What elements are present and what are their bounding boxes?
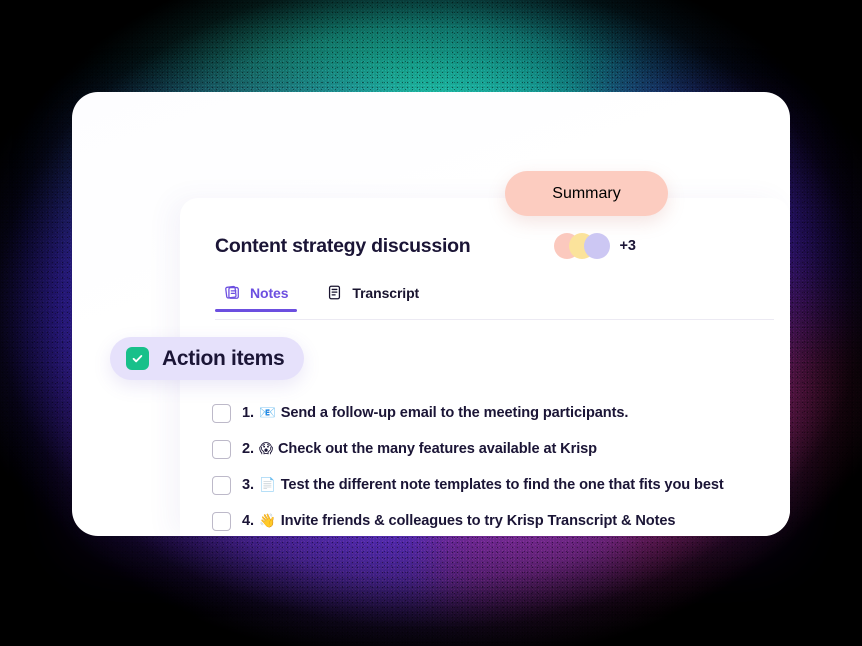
item-index: 1. [242,405,254,421]
action-items-label: Action items [162,347,284,371]
tabs-divider [215,319,774,320]
tab-notes[interactable]: Notes [215,278,297,312]
summary-badge[interactable]: Summary [505,171,668,216]
item-label: Test the different note templates to fin… [281,477,724,493]
item-label: Check out the many features available at… [278,441,597,457]
item-checkbox[interactable] [212,476,231,495]
meeting-card: Summary Content strategy discussion +3 [72,92,790,536]
email-emoji-icon: 📧 [259,405,276,421]
document-lines-icon [326,284,343,301]
tab-transcript-label: Transcript [352,285,419,301]
participant-group[interactable]: +3 [554,233,636,259]
panel-header: Content strategy discussion +3 [215,224,766,268]
tab-notes-label: Notes [250,285,288,301]
item-text-wrap: 1. 📧 Send a follow-up email to the meeti… [242,405,628,421]
list-item[interactable]: 1. 📧 Send a follow-up email to the meeti… [212,396,782,430]
page-emoji-icon: 📄 [259,477,276,493]
list-item[interactable]: 3. 📄 Test the different note templates t… [212,468,782,502]
page-title: Content strategy discussion [215,235,470,258]
item-text-wrap: 3. 📄 Test the different note templates t… [242,477,724,493]
summary-badge-label: Summary [552,185,620,203]
item-checkbox[interactable] [212,404,231,423]
item-text-wrap: 4. 👋 Invite friends & colleagues to try … [242,513,675,529]
action-items-list: 1. 📧 Send a follow-up email to the meeti… [212,396,782,536]
avatar-stack[interactable] [554,233,610,259]
item-index: 2. [242,441,254,457]
list-item[interactable]: 2. 😱 Check out the many features availab… [212,432,782,466]
sticky-notes-icon [224,284,241,301]
item-index: 4. [242,513,254,529]
item-checkbox[interactable] [212,512,231,531]
item-checkbox[interactable] [212,440,231,459]
avatar[interactable] [584,233,610,259]
participants-overflow-count[interactable]: +3 [619,238,636,254]
app-backdrop: Summary Content strategy discussion +3 [0,0,862,646]
action-items-section-badge[interactable]: Action items [110,337,304,380]
item-label: Send a follow-up email to the meeting pa… [281,405,629,421]
checkbox-checked-icon [126,347,149,370]
scream-emoji-icon: 😱 [259,441,273,457]
item-index: 3. [242,477,254,493]
panel-tabs: Notes Transcript [215,278,428,312]
waving-hand-emoji-icon: 👋 [259,513,276,529]
list-item[interactable]: 4. 👋 Invite friends & colleagues to try … [212,504,782,536]
tab-transcript[interactable]: Transcript [317,278,428,312]
item-label: Invite friends & colleagues to try Krisp… [281,513,676,529]
item-text-wrap: 2. 😱 Check out the many features availab… [242,441,597,457]
